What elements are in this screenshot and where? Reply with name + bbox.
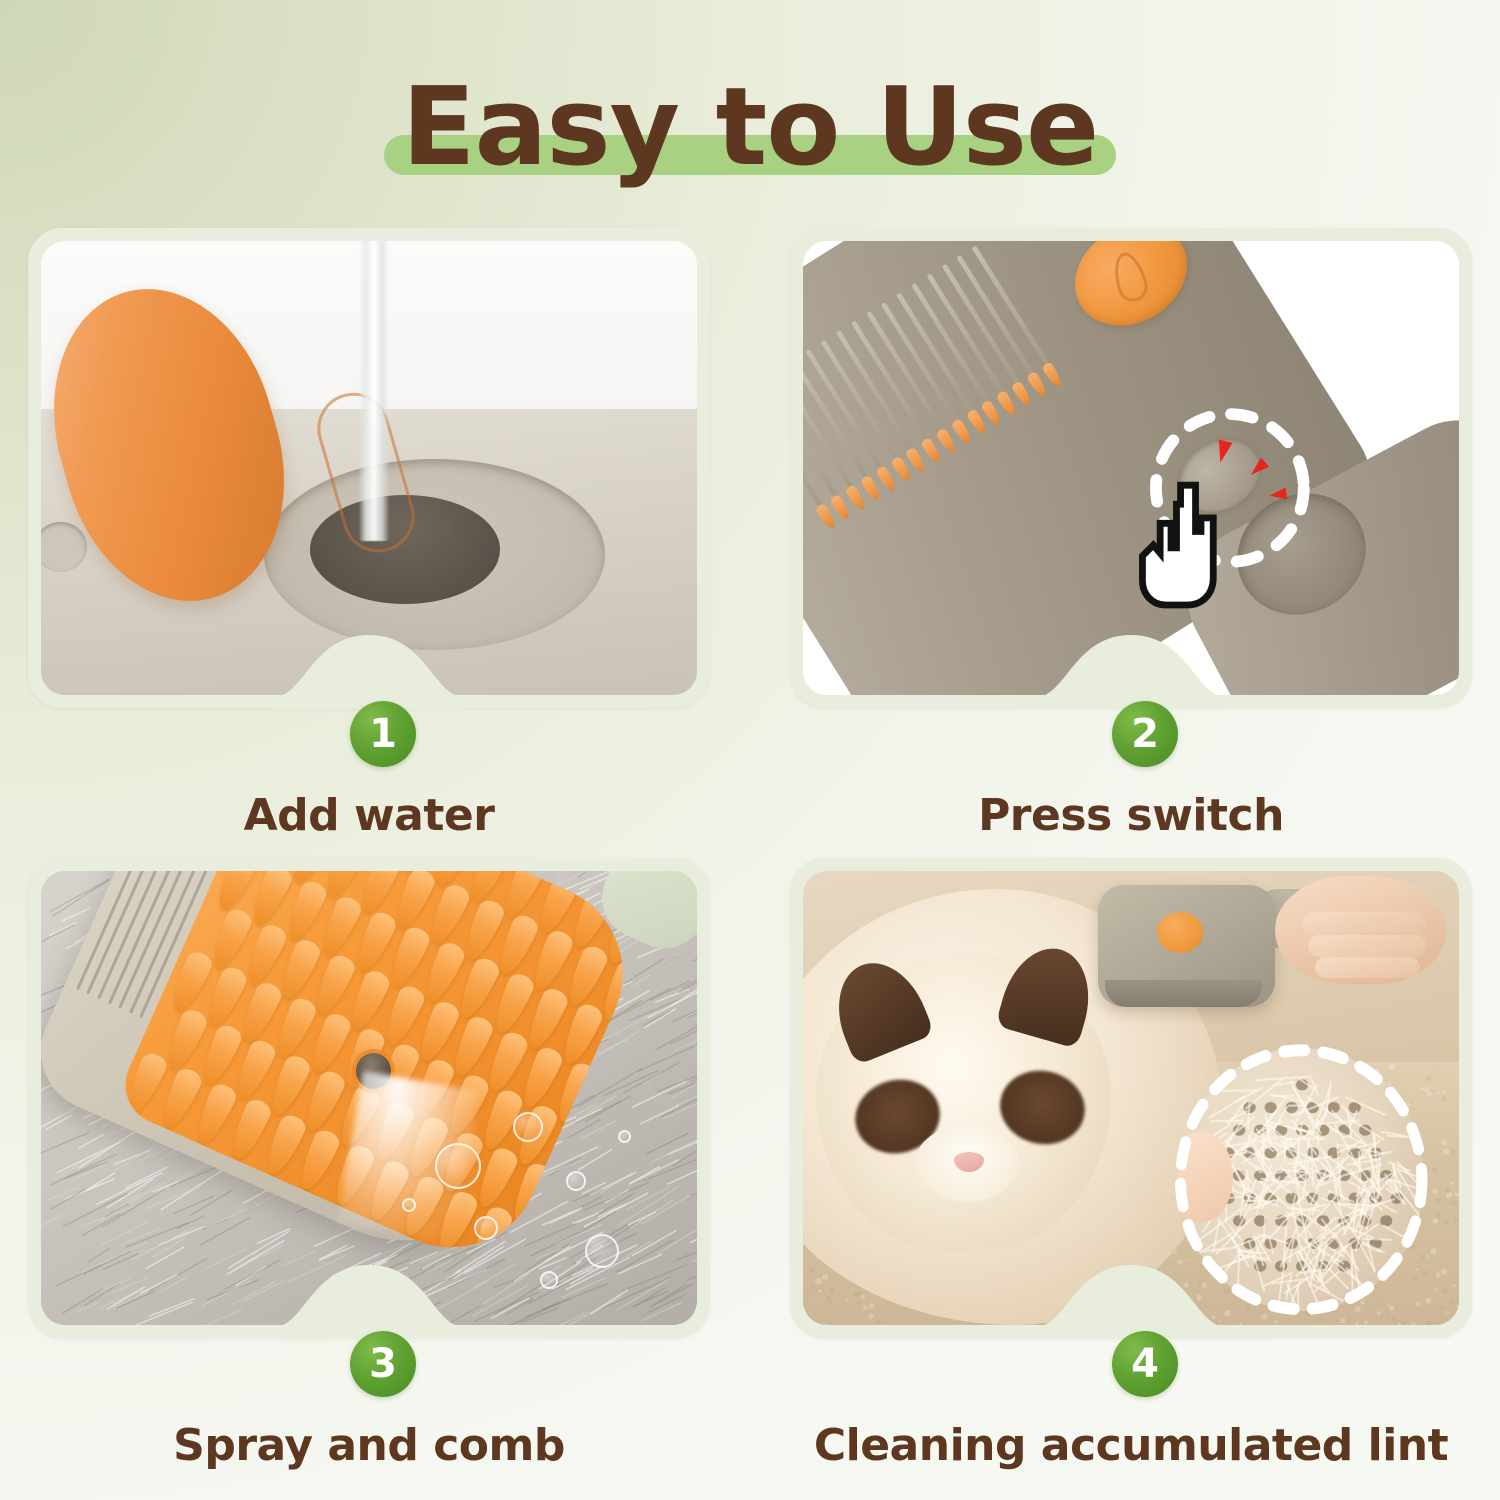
step-card-3: 3 Spray and comb	[28, 858, 738, 1488]
photo-frame-1	[28, 228, 710, 708]
step-card-1: 1 Add water	[28, 228, 738, 858]
comb-tooth	[851, 320, 928, 440]
silicone-bristle	[156, 1065, 205, 1132]
finger	[1308, 935, 1426, 958]
comb-tooth	[942, 264, 1019, 384]
comb-pin	[1041, 361, 1064, 389]
comb-tooth	[806, 349, 883, 469]
photo-frame-3	[28, 858, 710, 1338]
silicone-bristle	[498, 871, 547, 921]
silicone-bristle	[212, 871, 261, 914]
dashed-inset-ring	[1170, 1039, 1432, 1320]
water-bubble	[618, 1130, 631, 1143]
silicone-bristle	[206, 905, 255, 972]
brush-power-button	[1157, 912, 1203, 953]
press-ray-3	[1269, 488, 1288, 502]
finger	[1315, 957, 1420, 977]
step-caption-4: Cleaning accumulated lint	[790, 1420, 1472, 1471]
water-bubble	[402, 1198, 416, 1212]
page-title: Easy to Use	[402, 71, 1099, 184]
step-caption-2: Press switch	[790, 790, 1472, 841]
water-bubble	[540, 1271, 558, 1289]
photo-frame-4	[790, 858, 1472, 1338]
silicone-bristle	[161, 1006, 210, 1073]
silicone-bristle	[246, 871, 295, 930]
step-caption-3: Spray and comb	[28, 1420, 710, 1471]
step-badge-1: 1	[350, 701, 416, 767]
water-bubble	[513, 1112, 543, 1142]
water-bubble	[474, 1216, 498, 1240]
photo-frame-2	[790, 228, 1472, 708]
steps-grid: 1 Add water	[28, 228, 1472, 1478]
finger	[1302, 912, 1427, 935]
silicone-bristle	[389, 871, 438, 933]
silicone-bristle	[201, 964, 250, 1031]
brush-bristle-pad	[1105, 980, 1262, 1007]
water-bubble	[566, 1171, 586, 1191]
step-badge-3: 3	[350, 1331, 416, 1397]
step-badge-2: 2	[1112, 701, 1178, 767]
comb-tooth	[836, 330, 913, 450]
comb-tooth	[927, 273, 1004, 393]
comb-tooth	[866, 311, 943, 431]
step-image-4	[803, 871, 1459, 1325]
step-card-2: 2 Press switch	[762, 228, 1472, 858]
comb-tooth	[896, 292, 973, 412]
step-image-1	[41, 241, 697, 695]
comb-tooth	[911, 283, 988, 403]
title-wrap: Easy to Use	[402, 71, 1099, 184]
lint-closeup-inset	[1170, 1039, 1432, 1320]
silicone-bristle	[354, 871, 403, 918]
silicone-bristle	[310, 951, 359, 1018]
page-header: Easy to Use	[0, 58, 1500, 198]
step-card-4: 4 Cleaning accumulated lint	[762, 858, 1472, 1488]
water-bubble	[435, 1143, 481, 1189]
step-image-2	[803, 241, 1459, 695]
water-stream	[359, 241, 389, 541]
pointing-hand-cursor-icon	[1124, 477, 1229, 613]
silicone-bristle	[265, 1052, 314, 1119]
step-image-3	[41, 871, 697, 1325]
step-badge-4: 4	[1112, 1331, 1178, 1397]
step-caption-1: Add water	[28, 790, 710, 841]
comb-tooth	[881, 302, 958, 422]
silicone-bristle	[527, 927, 576, 994]
comb-tooth	[821, 339, 898, 459]
